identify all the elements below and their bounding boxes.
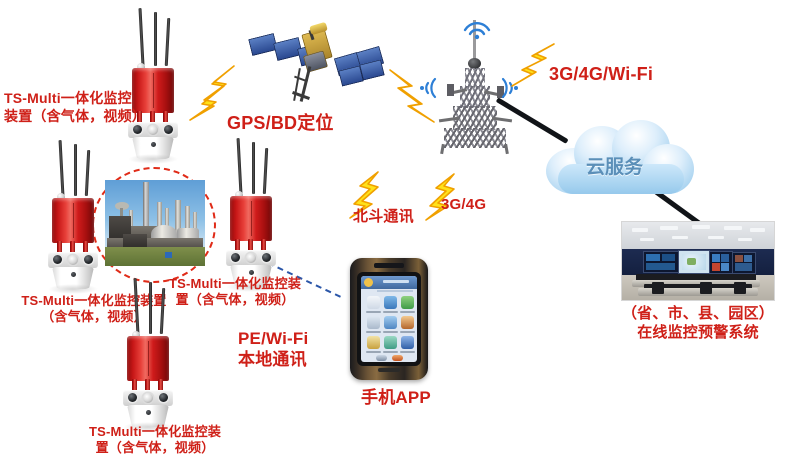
satellite-icon (248, 8, 383, 108)
cloud-service[interactable]: 云服务 (540, 118, 700, 200)
monitoring-center-photo (622, 222, 774, 300)
label-beidou-link: 北斗通讯 (353, 208, 414, 227)
label-gps-link: GPS/BD定位 (227, 112, 334, 135)
label-device-bottom: TS-Multi一体化监控装 置（含气体，视频） (60, 424, 250, 457)
ts-multi-device-mid-left[interactable] (30, 140, 120, 290)
label-mobile-network: 3G/4G/Wi-Fi (549, 63, 653, 86)
ts-multi-device-bottom[interactable] (105, 278, 195, 428)
label-monitoring-center: （省、市、县、园区） 在线监控预警系统 (600, 305, 796, 343)
label-cellular-link: 3G/4G (441, 196, 486, 215)
handheld-terminal[interactable] (350, 258, 428, 380)
lightning-bolt-icon-gps-right (382, 68, 440, 124)
label-device-top-left: TS-Multi一体化监控 装置（含气体，视频） (4, 90, 146, 125)
label-phone-app: 手机APP (361, 387, 431, 408)
industrial-plant-photo (105, 180, 205, 266)
wifi-wave-icon-top (459, 14, 495, 40)
label-local-link: PE/Wi-Fi 本地通讯 (238, 328, 308, 371)
network-architecture-diagram: 云服务 (0, 0, 797, 464)
ts-multi-device-mid-center[interactable] (208, 138, 298, 288)
cloud-service-label: 云服务 (586, 152, 643, 179)
